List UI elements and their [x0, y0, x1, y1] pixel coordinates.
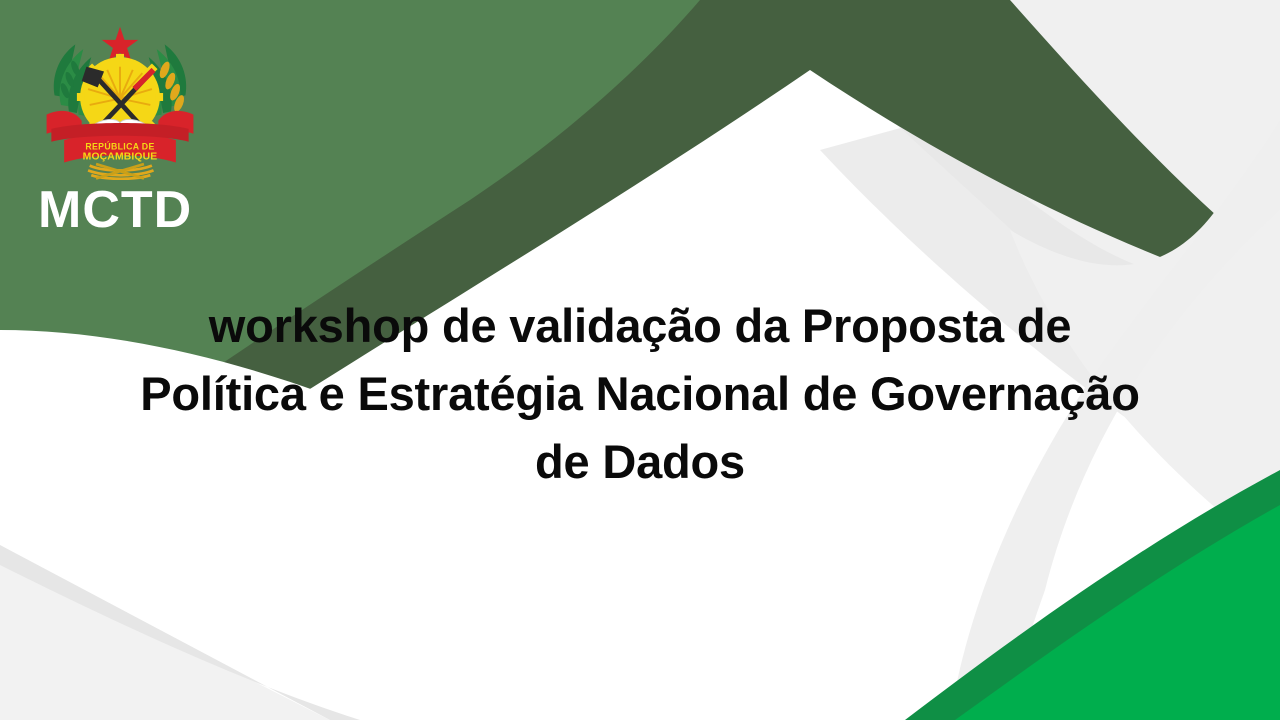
crossed-bands-icon: [88, 164, 153, 179]
mctd-wordmark: MCTD: [38, 184, 254, 236]
ribbon-text-line2: MOÇAMBIQUE: [83, 151, 158, 162]
mozambique-coat-of-arms-icon: REPÚBLICA DE MOÇAMBIQUE: [40, 22, 200, 180]
slide-title: workshop de validação da Proposta de Pol…: [140, 292, 1140, 496]
emblem-container: REPÚBLICA DE MOÇAMBIQUE: [40, 22, 200, 180]
ribbon-text-line1: REPÚBLICA DE: [85, 141, 154, 152]
slide-canvas: REPÚBLICA DE MOÇAMBIQUE MCTD workshop de…: [0, 0, 1280, 720]
brand-block: REPÚBLICA DE MOÇAMBIQUE MCTD: [34, 22, 254, 236]
title-block: workshop de validação da Proposta de Pol…: [140, 292, 1140, 496]
